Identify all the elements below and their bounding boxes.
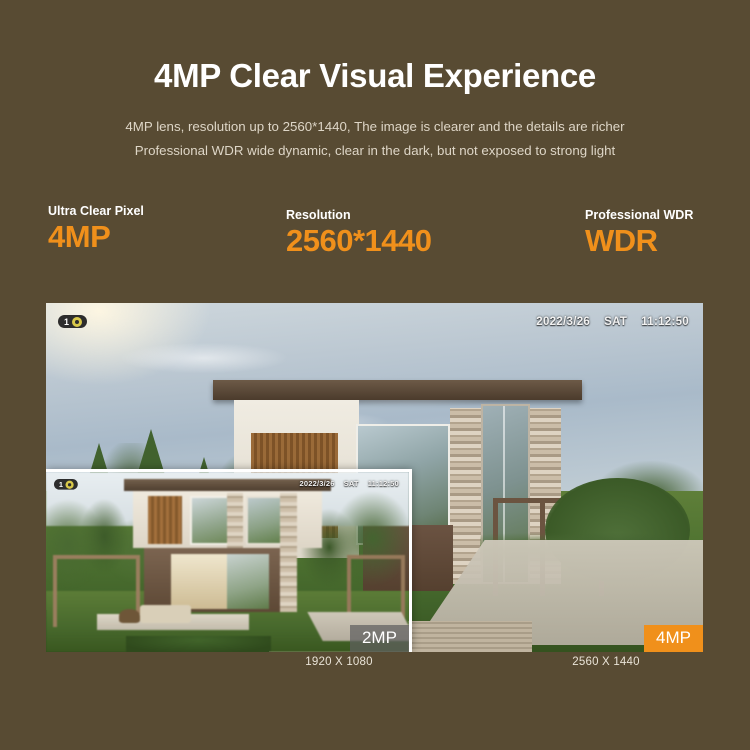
page-title: 4MP Clear Visual Experience bbox=[0, 58, 750, 94]
spec-label: Ultra Clear Pixel bbox=[48, 203, 144, 219]
spec-ultra-clear-pixel: Ultra Clear Pixel 4MP bbox=[48, 203, 144, 255]
window-glass-upper-right bbox=[246, 496, 282, 545]
resolution-comparison-image: 1 2022/3/26 SAT 11:12:50 4MP bbox=[46, 303, 703, 652]
spec-value: 2560*1440 bbox=[286, 223, 432, 259]
curtain bbox=[171, 554, 228, 609]
marketing-banner: 4MP Clear Visual Experience 4MP lens, re… bbox=[0, 0, 750, 750]
hedge-foreground bbox=[126, 636, 271, 652]
osd-weekday: SAT bbox=[604, 316, 627, 328]
osd-timestamp: 2022/3/26 SAT 11:12:50 bbox=[536, 316, 689, 328]
resolution-captions: 1920 X 1080 2560 X 1440 bbox=[46, 656, 703, 676]
window-glass-lower bbox=[227, 554, 269, 609]
osd-date: 2022/3/26 bbox=[300, 479, 335, 488]
camera-eye-icon bbox=[65, 480, 73, 488]
camera-eye-icon bbox=[72, 317, 82, 327]
preview-2mp-inset: 1 2022/3/26 SAT 11:12:50 2MP bbox=[46, 469, 412, 652]
flat-roof bbox=[213, 380, 582, 400]
osd-clock: 11:12:50 bbox=[368, 479, 399, 488]
osd-channel-badge: 1 bbox=[58, 315, 87, 328]
spec-highlights: Ultra Clear Pixel 4MP Resolution 2560*14… bbox=[0, 203, 750, 263]
osd-date: 2022/3/26 bbox=[536, 316, 590, 328]
wood-slat-screen bbox=[148, 496, 182, 544]
subtitle-line-2: Professional WDR wide dynamic, clear in … bbox=[0, 139, 750, 163]
osd-channel-number: 1 bbox=[64, 317, 69, 327]
stone-column bbox=[280, 493, 297, 611]
caption-2mp: 1920 X 1080 bbox=[305, 656, 372, 668]
osd-weekday: SAT bbox=[344, 479, 359, 488]
osd-channel-number: 1 bbox=[59, 480, 63, 488]
patio-sofa bbox=[140, 605, 191, 623]
caption-4mp: 2560 X 1440 bbox=[572, 656, 639, 668]
spec-resolution: Resolution 2560*1440 bbox=[286, 207, 432, 259]
page-subtitle: 4MP lens, resolution up to 2560*1440, Th… bbox=[0, 115, 750, 163]
modern-house bbox=[133, 479, 322, 623]
patio-chair bbox=[119, 609, 141, 623]
spec-value: 4MP bbox=[48, 219, 144, 255]
quality-tag-2mp: 2MP bbox=[350, 625, 409, 652]
spec-label: Professional WDR bbox=[585, 207, 693, 223]
subtitle-line-1: 4MP lens, resolution up to 2560*1440, Th… bbox=[0, 115, 750, 139]
quality-tag-4mp: 4MP bbox=[644, 625, 703, 652]
osd-channel-badge: 1 bbox=[54, 479, 78, 490]
spec-value: WDR bbox=[585, 223, 693, 259]
spec-label: Resolution bbox=[286, 207, 432, 223]
spec-professional-wdr: Professional WDR WDR bbox=[585, 207, 693, 259]
osd-timestamp: 2022/3/26 SAT 11:12:50 bbox=[300, 479, 399, 488]
osd-clock: 11:12:50 bbox=[641, 316, 689, 328]
